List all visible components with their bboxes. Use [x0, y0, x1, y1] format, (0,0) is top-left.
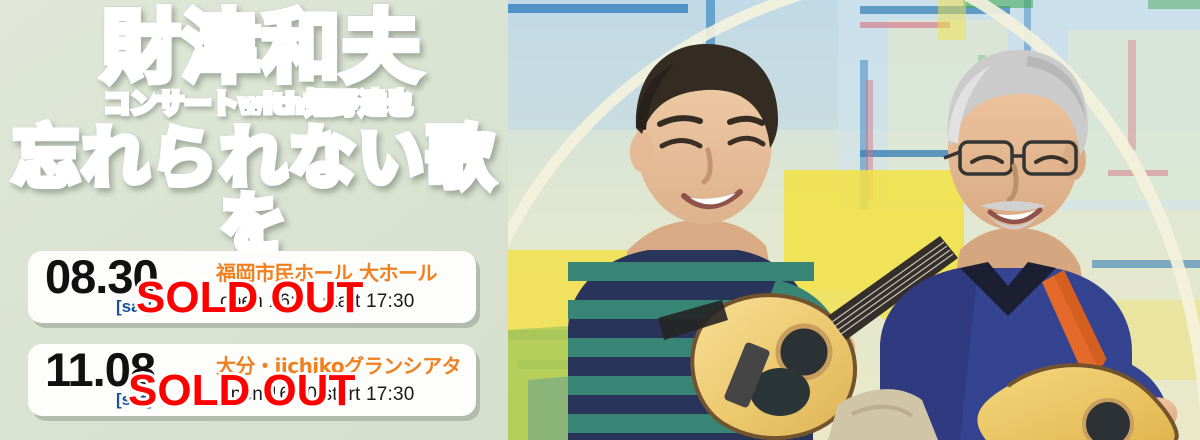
schedule-card[interactable]: 11.08 [sat] 大分・iichikoグランシアタ open 16:30 … — [28, 344, 476, 416]
performer-photo-illustration — [508, 0, 1200, 440]
theme-line: 忘れられない歌を — [0, 125, 508, 259]
status-badge-sold-out: SOLD OUT — [128, 366, 355, 416]
schedule-card[interactable]: 08.30 [sat] 福岡市民ホール 大ホール open 16:30 star… — [28, 251, 476, 323]
concert-subtitle: コンサートwith姫野達也 — [8, 91, 508, 118]
concert-banner: 財津和夫 コンサートwith姫野達也 忘れられない歌を “ZAITSU KAZU… — [0, 0, 1200, 440]
artist-name: 財津和夫 — [16, 0, 508, 87]
performer-photo — [508, 0, 1200, 440]
text-panel: 財津和夫 コンサートwith姫野達也 忘れられない歌を “ZAITSU KAZU… — [0, 0, 508, 440]
status-badge-sold-out: SOLD OUT — [136, 273, 363, 323]
